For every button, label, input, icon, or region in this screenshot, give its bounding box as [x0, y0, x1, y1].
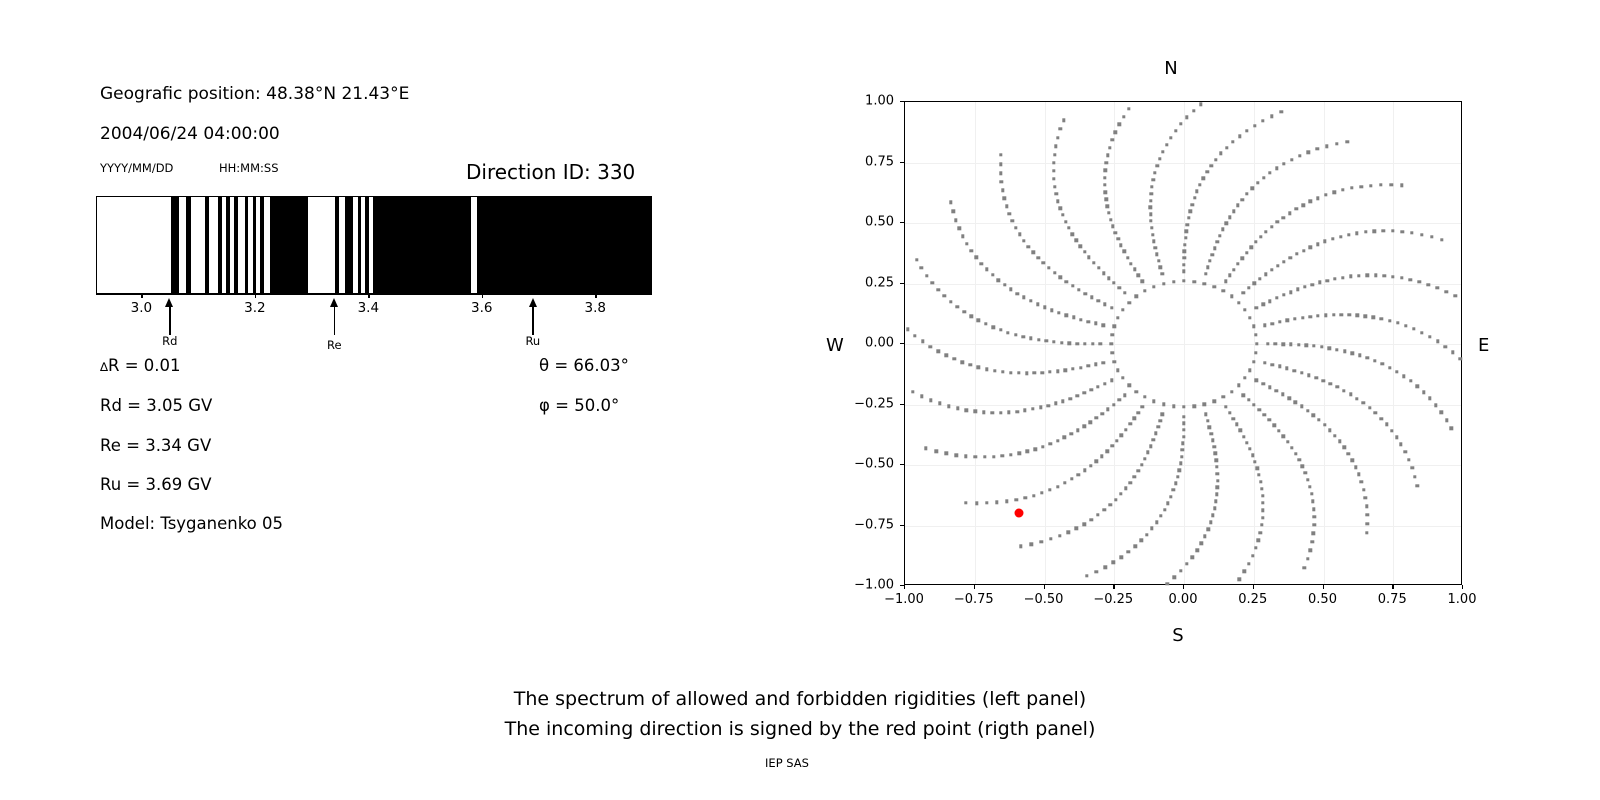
direction-dot — [938, 402, 941, 405]
direction-dot — [1017, 371, 1020, 374]
spectrum-marker-arrows: RdReRu — [96, 298, 652, 358]
direction-dot — [1204, 412, 1207, 415]
direction-dot — [1224, 405, 1227, 408]
direction-dot — [1113, 360, 1116, 363]
direction-dot — [1338, 440, 1341, 443]
direction-dot — [1055, 192, 1058, 195]
forbidden-band — [358, 197, 361, 293]
direction-dot — [1289, 256, 1292, 259]
direction-dot — [1252, 325, 1255, 328]
plot-x-tick — [1183, 585, 1184, 589]
gridline-horizontal — [905, 344, 1461, 345]
direction-dot — [1149, 192, 1152, 195]
direction-dot — [1298, 154, 1301, 157]
direction-dot — [1059, 127, 1062, 130]
direction-dot — [1333, 191, 1336, 194]
direction-dot — [1118, 123, 1121, 126]
direction-dot — [1076, 394, 1079, 397]
direction-dot — [1169, 495, 1172, 498]
direction-dot — [1436, 286, 1439, 289]
direction-dot — [1316, 242, 1319, 245]
direction-dot — [1135, 295, 1138, 298]
direction-dot — [1347, 233, 1350, 236]
direction-dot — [1103, 176, 1106, 179]
direction-dot — [1106, 204, 1109, 207]
direction-dot — [1195, 549, 1198, 552]
direction-dot — [1224, 279, 1227, 282]
direction-dot — [1365, 531, 1368, 534]
direction-dot — [1173, 576, 1176, 579]
direction-dot — [1001, 454, 1004, 457]
direction-dot — [1259, 235, 1262, 238]
direction-dot — [1137, 274, 1140, 277]
direction-dot — [1143, 457, 1146, 460]
direction-dot — [983, 455, 986, 458]
direction-dot — [961, 235, 964, 238]
direction-dot — [1356, 314, 1359, 317]
direction-dot — [1309, 315, 1312, 318]
direction-dot — [1151, 233, 1154, 236]
direction-dot — [984, 322, 987, 325]
direction-dot — [1064, 220, 1067, 223]
direction-dot — [1026, 450, 1029, 453]
direction-dot — [1070, 477, 1073, 480]
direction-dot — [1208, 259, 1211, 262]
direction-dot — [1254, 240, 1257, 243]
direction-dot — [1195, 190, 1198, 193]
direction-dot — [1247, 286, 1250, 289]
forbidden-band — [335, 197, 339, 293]
direction-dot — [949, 201, 952, 204]
plot-y-tick-label: −0.25 — [842, 396, 894, 411]
direction-dot — [1150, 185, 1153, 188]
marker-label-rd: Rd — [162, 334, 177, 348]
direction-dot — [970, 249, 973, 252]
direction-dot — [1274, 342, 1277, 345]
direction-dot — [1095, 459, 1098, 462]
direction-dot — [1350, 186, 1353, 189]
direction-dot — [1255, 342, 1258, 345]
plot-y-axis: −1.00−0.75−0.50−0.250.000.250.500.751.00 — [904, 101, 905, 585]
direction-dot — [1083, 391, 1086, 394]
direction-dot — [1402, 374, 1405, 377]
direction-dot — [915, 258, 918, 261]
direction-dot — [1060, 341, 1063, 344]
param-delta-r: ∆R = 0.01 — [100, 356, 181, 375]
direction-dot — [1053, 153, 1056, 156]
direction-dot — [1252, 360, 1255, 363]
direction-dot — [1240, 198, 1243, 201]
direction-dot — [1152, 400, 1155, 403]
direction-dot — [1252, 403, 1255, 406]
direction-dot — [1014, 333, 1017, 336]
direction-dot — [1261, 382, 1264, 385]
direction-dot — [1082, 522, 1085, 525]
direction-dot — [1236, 204, 1239, 207]
direction-dot — [1128, 422, 1131, 425]
direction-dot — [1399, 443, 1402, 446]
direction-dot — [1395, 370, 1398, 373]
direction-dot — [1149, 444, 1152, 447]
compass-label-north: N — [1164, 58, 1177, 79]
direction-dot — [1335, 385, 1338, 388]
direction-dot — [1287, 397, 1290, 400]
direction-dot — [1213, 246, 1216, 249]
direction-dot — [1270, 225, 1273, 228]
direction-dot — [1251, 454, 1254, 457]
direction-dot — [1032, 494, 1035, 497]
direction-dot — [1003, 283, 1006, 286]
direction-dot — [1140, 279, 1143, 282]
direction-dot — [1391, 275, 1394, 278]
direction-dot — [1048, 488, 1051, 491]
direction-dot — [1360, 480, 1363, 483]
direction-dot — [1215, 458, 1218, 461]
direction-dot — [1193, 280, 1196, 283]
direction-dot — [1059, 276, 1062, 279]
direction-dot — [1185, 562, 1188, 565]
direction-dot — [1248, 316, 1251, 319]
direction-dot — [1303, 285, 1306, 288]
direction-dot — [1031, 251, 1034, 254]
direction-dot — [1228, 215, 1231, 218]
direction-dot — [1213, 507, 1216, 510]
direction-dot — [1031, 407, 1034, 410]
direction-dot — [1316, 196, 1319, 199]
direction-dot — [1063, 481, 1066, 484]
direction-dot — [1105, 449, 1108, 452]
direction-dot — [1162, 403, 1165, 406]
direction-dot — [965, 408, 968, 411]
direction-dot — [1152, 239, 1155, 242]
direction-dot — [1105, 161, 1108, 164]
direction-dot — [1115, 439, 1118, 442]
direction-dot — [1257, 473, 1260, 476]
direction-dot — [1183, 256, 1186, 259]
direction-dot — [964, 455, 967, 458]
direction-dot — [1071, 284, 1074, 287]
direction-dot — [1000, 180, 1003, 183]
direction-dot — [1014, 226, 1017, 229]
direction-dot — [999, 171, 1002, 174]
direction-dot — [977, 319, 980, 322]
direction-dot — [1109, 503, 1112, 506]
plot-x-tick-label: −0.25 — [1093, 592, 1133, 607]
direction-dot — [1189, 209, 1192, 212]
direction-dot — [1179, 122, 1182, 125]
direction-dot — [1326, 279, 1329, 282]
direction-dot — [1176, 475, 1179, 478]
plot-x-tick — [974, 585, 975, 589]
direction-dot — [1278, 320, 1281, 323]
direction-dot — [1089, 421, 1092, 424]
direction-dot — [1253, 282, 1256, 285]
direction-dot — [1145, 533, 1148, 536]
direction-dot — [1079, 366, 1082, 369]
direction-dot — [1218, 234, 1221, 237]
direction-dot — [993, 369, 996, 372]
direction-dot — [1133, 268, 1136, 271]
direction-dot — [1427, 283, 1430, 286]
direction-dot — [1110, 306, 1113, 309]
direction-dot — [1400, 276, 1403, 279]
direction-dot — [1118, 398, 1121, 401]
direction-dot — [1253, 124, 1256, 127]
direction-dot — [1016, 292, 1019, 295]
direction-dot — [1149, 213, 1152, 216]
direction-dot — [1104, 191, 1107, 194]
direction-dot — [1067, 531, 1070, 534]
direction-dot — [1275, 296, 1278, 299]
direction-dot — [1153, 171, 1156, 174]
direction-dot — [1373, 230, 1376, 233]
direction-dot — [1216, 472, 1219, 475]
direction-dot — [1029, 337, 1032, 340]
direction-dot — [1247, 398, 1250, 401]
direction-dot — [1106, 408, 1109, 411]
direction-dot — [1282, 216, 1285, 219]
direction-dot — [1179, 569, 1182, 572]
direction-dot — [1343, 350, 1346, 353]
direction-dot — [1146, 451, 1149, 454]
direction-dot — [1112, 561, 1115, 564]
param-rd: Rd = 3.05 GV — [100, 396, 212, 415]
direction-dot — [1261, 501, 1264, 504]
direction-dot — [1430, 235, 1433, 238]
direction-dot — [1268, 299, 1271, 302]
direction-dot — [1191, 203, 1194, 206]
direction-dot — [1294, 452, 1297, 455]
direction-dot — [999, 411, 1002, 414]
direction-dot — [1099, 342, 1102, 345]
direction-dot — [1420, 331, 1423, 334]
direction-dot — [964, 501, 967, 504]
direction-dot — [1052, 161, 1055, 164]
direction-dot — [1212, 285, 1215, 288]
direction-dot — [1409, 278, 1412, 281]
direction-dot — [1281, 393, 1284, 396]
direction-dot — [1161, 412, 1164, 415]
direction-dot — [929, 398, 932, 401]
direction-dot — [931, 281, 934, 284]
direction-dot — [1097, 266, 1100, 269]
forbidden-band — [234, 197, 238, 293]
direction-dot — [1357, 473, 1360, 476]
direction-dot — [1219, 152, 1222, 155]
direction-dot — [1110, 351, 1113, 354]
direction-dot — [1111, 225, 1114, 228]
direction-dot — [1301, 203, 1304, 206]
direction-dot — [1255, 306, 1258, 309]
caption-line-2: The incoming direction is signed by the … — [505, 718, 1096, 740]
direction-dot — [1275, 167, 1278, 170]
direction-dot — [1071, 233, 1074, 236]
gridline-horizontal — [905, 465, 1461, 466]
direction-dot — [1280, 110, 1283, 113]
direction-dot — [1103, 183, 1106, 186]
direction-dot — [1300, 405, 1303, 408]
direction-dot — [1251, 554, 1254, 557]
direction-dot — [1237, 301, 1240, 304]
direction-dot — [1187, 216, 1190, 219]
direction-dot — [1159, 514, 1162, 517]
direction-dot — [943, 294, 946, 297]
plot-x-tick-label: 0.25 — [1238, 592, 1267, 607]
plot-y-tick — [900, 162, 904, 163]
direction-dot — [1076, 429, 1079, 432]
direction-dot — [1112, 403, 1115, 406]
direction-dot — [974, 410, 977, 413]
direction-dot — [1313, 515, 1316, 518]
spectrum-bar — [96, 196, 652, 294]
direction-dot — [1351, 351, 1354, 354]
direction-dot — [1182, 428, 1185, 431]
plot-x-tick — [1044, 585, 1045, 589]
direction-dot — [1302, 249, 1305, 252]
direction-dot — [1022, 239, 1025, 242]
plot-y-tick-label: 0.50 — [842, 215, 894, 230]
gridline-horizontal — [905, 223, 1461, 224]
direction-dot — [1335, 142, 1338, 145]
direction-dot — [1198, 183, 1201, 186]
direction-dot — [1174, 129, 1177, 132]
direction-dot — [1006, 331, 1009, 334]
arrow-shaft — [334, 305, 335, 335]
direction-dot — [1140, 463, 1143, 466]
direction-dot — [1241, 291, 1244, 294]
direction-dot — [1312, 532, 1315, 535]
direction-dot — [1116, 368, 1119, 371]
direction-dot — [1056, 136, 1059, 139]
direction-dot — [1374, 274, 1377, 277]
direction-dot — [1109, 218, 1112, 221]
direction-dot — [1418, 280, 1421, 283]
forbidden-band — [373, 197, 472, 293]
direction-dot — [1293, 317, 1296, 320]
direction-dot — [1300, 371, 1303, 374]
direction-dot — [1366, 522, 1369, 525]
direction-dot — [1103, 382, 1106, 385]
direction-dot — [1101, 324, 1104, 327]
direction-dot — [1332, 313, 1335, 316]
direction-dot — [1320, 345, 1323, 348]
direction-dot — [1129, 262, 1132, 265]
direction-dot — [1182, 270, 1185, 273]
direction-dot — [1110, 333, 1113, 336]
direction-dot — [1043, 306, 1046, 309]
direction-dot — [1211, 439, 1214, 442]
direction-dot — [1261, 119, 1264, 122]
direction-dot — [947, 405, 950, 408]
direction-dot — [1090, 518, 1093, 521]
gridline-horizontal — [905, 284, 1461, 285]
direction-dot — [1155, 521, 1158, 524]
direction-dot — [1110, 379, 1113, 382]
direction-dot — [1342, 389, 1345, 392]
forbidden-band — [477, 197, 652, 293]
direction-dot — [995, 501, 998, 504]
direction-dot — [1362, 488, 1365, 491]
direction-dot — [1124, 428, 1127, 431]
plot-y-tick-label: 1.00 — [842, 94, 894, 109]
direction-dot — [1120, 555, 1123, 558]
direction-dot — [1388, 319, 1391, 322]
direction-dot — [1445, 418, 1448, 421]
direction-dot — [1264, 273, 1267, 276]
direction-dot — [1312, 414, 1315, 417]
direction-dot — [1007, 212, 1010, 215]
direction-dot — [992, 455, 995, 458]
direction-dot — [1243, 570, 1246, 573]
direction-dot — [1054, 145, 1057, 148]
direction-dot — [1133, 417, 1136, 420]
direction-dot — [1273, 424, 1276, 427]
direction-dot — [1161, 150, 1164, 153]
direction-dot — [1395, 436, 1398, 439]
direction-dot — [1203, 403, 1206, 406]
direction-dot — [1355, 231, 1358, 234]
direction-dot — [1127, 550, 1130, 553]
direction-dot — [1285, 367, 1288, 370]
direction-dot — [956, 305, 959, 308]
direction-dot — [1077, 288, 1080, 291]
direction-dot — [1341, 276, 1344, 279]
direction-dot — [975, 501, 978, 504]
direction-dot — [1261, 516, 1264, 519]
direction-dot — [1172, 488, 1175, 491]
direction-dot — [1422, 390, 1425, 393]
direction-dot — [1450, 427, 1453, 430]
direction-dot — [1182, 435, 1185, 438]
direction-dot — [1331, 237, 1334, 240]
direction-dot — [969, 363, 972, 366]
forbidden-band — [205, 197, 210, 293]
direction-dot — [1162, 282, 1165, 285]
direction-dot — [1415, 484, 1418, 487]
direction-dot — [1268, 418, 1271, 421]
direction-dot — [1018, 233, 1021, 236]
direction-dot — [1208, 425, 1211, 428]
direction-dot — [1166, 501, 1169, 504]
direction-id-label: Direction ID: 330 — [466, 160, 635, 184]
direction-dot — [1309, 200, 1312, 203]
direction-dot — [1428, 335, 1431, 338]
delta-r-value: R = 0.01 — [108, 356, 181, 375]
direction-dot — [1152, 438, 1155, 441]
direction-dot — [1136, 469, 1139, 472]
direction-dot — [1180, 455, 1183, 458]
direction-dot — [1333, 277, 1336, 280]
direction-dot — [1282, 434, 1285, 437]
direction-dot — [1001, 189, 1004, 192]
direction-dot — [1355, 397, 1358, 400]
direction-dot — [1014, 498, 1017, 501]
direction-dot — [1048, 370, 1051, 373]
direction-dot — [1206, 266, 1209, 269]
direction-dot — [1068, 341, 1071, 344]
plot-y-tick — [900, 222, 904, 223]
direction-dot — [1349, 393, 1352, 396]
param-phi: φ = 50.0° — [539, 396, 619, 415]
direction-dot — [1103, 508, 1106, 511]
direction-dot — [1116, 316, 1119, 319]
direction-dot — [1120, 433, 1123, 436]
direction-dot — [1061, 213, 1064, 216]
direction-dot — [1087, 256, 1090, 259]
direction-dot — [1018, 452, 1021, 455]
forbidden-band — [345, 197, 353, 293]
direction-dot — [1181, 442, 1184, 445]
